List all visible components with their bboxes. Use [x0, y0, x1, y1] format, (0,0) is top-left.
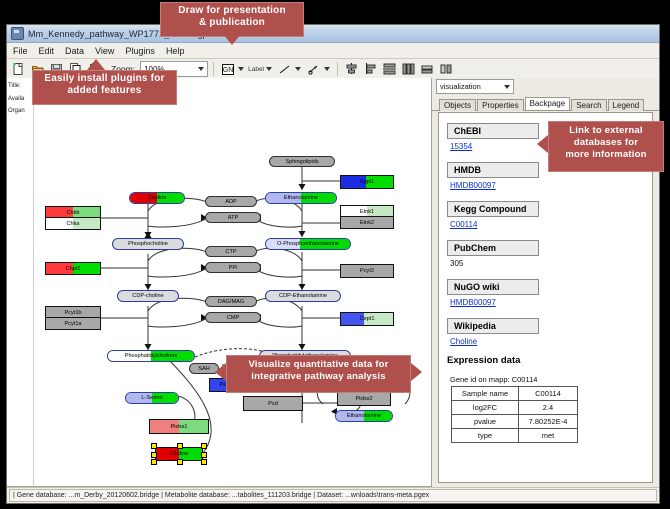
gene-label: Cept1	[360, 316, 375, 322]
node-label: L-Serine	[141, 395, 162, 401]
distribute-horizontal-icon[interactable]	[400, 61, 417, 78]
label-tool[interactable]: Label	[248, 66, 274, 73]
handle-nw[interactable]	[151, 443, 157, 449]
callout-draw: Draw for presentation & publication	[160, 2, 304, 37]
db-link-kegg[interactable]: C00114	[450, 220, 652, 229]
node-adp[interactable]: ADP	[205, 196, 257, 207]
menu-plugins[interactable]: Plugins	[124, 46, 156, 56]
node-atp[interactable]: ATP	[205, 212, 261, 223]
tab-objects[interactable]: Objects	[439, 99, 476, 111]
screenshot-root: Mm_Kennedy_pathway_WP1771_45176.gpml Fil…	[0, 0, 670, 509]
callout-plugins: Easily install plugins for added feature…	[32, 70, 177, 105]
menu-file[interactable]: File	[12, 46, 29, 56]
handle-e[interactable]	[201, 452, 207, 458]
gene-psd[interactable]: Psd	[243, 396, 303, 411]
gene-label: Pcyt1b	[64, 310, 81, 316]
callout-visualize-line2: integrative pathway analysis	[226, 371, 411, 383]
gene-chpt1[interactable]: Chpt1	[45, 262, 101, 275]
node-label: CTP	[225, 249, 236, 255]
node-label: ATP	[228, 215, 238, 221]
expr-value: met	[519, 429, 578, 443]
node-label: Ethanolamine	[347, 413, 381, 419]
chevron-down-icon	[504, 85, 510, 89]
interaction-icon[interactable]	[305, 61, 322, 78]
node-label: ADP	[225, 199, 237, 205]
node-cdp-ethanolamine[interactable]: CDP-Ethanolamine	[265, 290, 341, 302]
menu-edit[interactable]: Edit	[38, 46, 56, 56]
line-tool[interactable]	[276, 61, 303, 78]
visualization-value: visualization	[440, 82, 481, 91]
chevron-down-icon	[198, 67, 204, 71]
toolbar-separator	[213, 62, 214, 76]
node-label: DAG/MAG	[218, 299, 244, 305]
node-label: CMP	[227, 315, 239, 321]
same-height-icon[interactable]	[438, 61, 455, 78]
datanode-icon[interactable]: GN	[219, 61, 236, 78]
node-label: CDP-Ethanolamine	[279, 293, 327, 299]
table-row: pvalue 7.80252E-4	[452, 415, 578, 429]
datanode-tool[interactable]: GN	[219, 61, 246, 78]
callout-visualize: Visualize quantitative data for integrat…	[226, 355, 411, 393]
pathway-canvas[interactable]: Title: Availa Organ	[7, 78, 432, 487]
gene-ptdss1[interactable]: Ptdss1	[149, 419, 209, 434]
db-header-kegg: Kegg Compound	[447, 201, 539, 217]
menu-help[interactable]: Help	[165, 46, 186, 56]
status-bar: | Gene database: ...m_Derby_20120602.bri…	[7, 487, 659, 503]
handle-w[interactable]	[151, 452, 157, 458]
interaction-tool[interactable]	[305, 61, 332, 78]
callout-plugins-line2: added features	[32, 85, 177, 97]
gene-label: Etnk1	[360, 209, 374, 215]
node-phosphocholine[interactable]: Phosphocholine	[112, 238, 184, 250]
node-label: O-Phosphoethanolamine	[277, 241, 339, 247]
callout-plugins-line1: Easily install plugins for	[32, 73, 177, 85]
tab-backpage[interactable]: Backpage	[525, 97, 571, 110]
new-file-icon[interactable]	[10, 61, 27, 78]
expr-key: type	[452, 429, 519, 443]
db-header-hmdb: HMDB	[447, 162, 539, 178]
callout-link-line1: Link to external	[548, 125, 664, 137]
node-cdp-choline[interactable]: CDP-choline	[117, 290, 179, 302]
handle-sw[interactable]	[151, 459, 157, 465]
align-left-icon[interactable]	[362, 61, 379, 78]
gene-label: Chka	[66, 221, 79, 227]
tab-search[interactable]: Search	[571, 99, 606, 111]
menu-data[interactable]: Data	[64, 46, 85, 56]
callout-link-line2: databases for	[548, 137, 664, 149]
node-dagmag[interactable]: DAG/MAG	[205, 296, 257, 307]
svg-text:GN: GN	[222, 67, 233, 74]
db-link-hmdb[interactable]: HMDB00097	[450, 181, 652, 190]
node-sphingolipids[interactable]: Sphingolipids	[269, 156, 335, 167]
expr-value: C00114	[519, 387, 578, 401]
node-label: Phosphocholine	[128, 241, 168, 247]
node-label: Ethanolamine	[284, 195, 318, 201]
node-l-serine-left[interactable]: L-Serine	[125, 392, 179, 404]
node-o-phosphoethanolamine[interactable]: O-Phosphoethanolamine	[265, 238, 351, 250]
gene-label: Pcyt1a	[64, 321, 81, 327]
node-label: PPi	[229, 265, 238, 271]
expr-value: 7.80252E-4	[519, 415, 578, 429]
handle-ne[interactable]	[201, 443, 207, 449]
node-label: Phosphatidylcholines	[125, 353, 178, 359]
node-label: Sphingolipids	[285, 159, 318, 165]
callout-visualize-arrow-right	[411, 363, 422, 381]
db-link-nugo[interactable]: HMDB00097	[450, 298, 652, 307]
callout-draw-line2: & publication	[160, 17, 304, 29]
handle-s[interactable]	[177, 459, 183, 465]
handle-se[interactable]	[201, 459, 207, 465]
title-bar: Mm_Kennedy_pathway_WP1771_45176.gpml	[7, 25, 659, 43]
gene-label: Chkb	[66, 210, 79, 216]
same-width-icon[interactable]	[419, 61, 436, 78]
node-choline-top[interactable]: Choline	[129, 192, 185, 204]
expr-value: 2.4	[519, 401, 578, 415]
gene-sgpl1[interactable]: Sgpl1	[340, 175, 394, 189]
chevron-down-icon[interactable]	[238, 67, 244, 71]
pathway-edges	[7, 78, 431, 487]
expr-key: log2FC	[452, 401, 519, 415]
canvas-surface[interactable]: Title: Availa Organ	[7, 78, 431, 486]
gene-label: Ptdss1	[170, 424, 187, 430]
handle-n[interactable]	[177, 443, 183, 449]
gene-ptdss2[interactable]: Ptdss2	[337, 392, 391, 406]
gene-label: Psd	[268, 401, 278, 407]
gene-label: Ptdss2	[355, 396, 372, 402]
callout-link-line3: more information	[548, 149, 664, 161]
node-ethanolamine-top[interactable]: Ethanolamine	[265, 192, 337, 204]
side-panel-tabs: Objects Properties Backpage Search Legen…	[432, 95, 659, 111]
gene-label: Etnk2	[360, 220, 374, 226]
db-header-nugo: NuGO wiki	[447, 279, 539, 295]
status-text: | Gene database: ...m_Derby_20120602.bri…	[9, 489, 657, 502]
db-value-pubchem: 305	[450, 259, 652, 268]
tab-legend[interactable]: Legend	[608, 99, 645, 111]
node-ppi[interactable]: PPi	[205, 262, 261, 273]
expr-key: Sample name	[452, 387, 519, 401]
menu-bar: File Edit Data View Plugins Help	[7, 43, 659, 59]
chevron-down-icon[interactable]	[266, 67, 272, 71]
app-icon	[11, 27, 24, 40]
node-label: CDP-choline	[132, 293, 163, 299]
line-icon[interactable]	[276, 61, 293, 78]
callout-link: Link to external databases for more info…	[548, 121, 664, 172]
chevron-down-icon[interactable]	[324, 67, 330, 71]
db-link-wikipedia[interactable]: Choline	[450, 337, 652, 346]
gene-chka[interactable]: Chka	[45, 217, 101, 230]
distribute-vertical-icon[interactable]	[381, 61, 398, 78]
db-header-chebi: ChEBI	[447, 123, 539, 139]
toolbar-separator	[337, 62, 338, 76]
selection-handles[interactable]	[151, 443, 207, 465]
gene-id-label: Gene id on mapp: C00114	[450, 375, 652, 384]
callout-visualize-arrow-left	[215, 363, 226, 381]
callout-draw-arrow	[223, 34, 241, 45]
visualization-select[interactable]: visualization	[436, 79, 514, 94]
table-row: log2FC 2.4	[452, 401, 578, 415]
node-phosphatidylcholines[interactable]: Phosphatidylcholines	[107, 350, 195, 362]
node-cmp[interactable]: CMP	[205, 312, 261, 323]
node-label: Choline	[148, 195, 167, 201]
callout-draw-line1: Draw for presentation	[160, 5, 304, 17]
node-ctp[interactable]: CTP	[205, 246, 257, 257]
chevron-down-icon[interactable]	[295, 67, 301, 71]
expression-table: Sample name C00114 log2FC 2.4 pvalue 7.8…	[451, 386, 578, 443]
expr-key: pvalue	[452, 415, 519, 429]
callout-plugins-arrow	[87, 59, 105, 70]
gene-etnk2[interactable]: Etnk2	[340, 216, 394, 229]
gene-label: Pcyt2	[360, 268, 374, 274]
db-header-wikipedia: Wikipedia	[447, 318, 539, 334]
callout-visualize-line1: Visualize quantitative data for	[226, 359, 411, 371]
visualization-row: visualization	[432, 78, 659, 95]
node-ethanolamine-bottom[interactable]: Ethanolamine	[335, 410, 393, 422]
table-row: type met	[452, 429, 578, 443]
table-row: Sample name C00114	[452, 387, 578, 401]
gene-cept1[interactable]: Cept1	[340, 312, 394, 326]
gene-label: Chpt1	[66, 266, 81, 272]
menu-view[interactable]: View	[94, 46, 115, 56]
node-label: SAH	[198, 366, 210, 372]
db-header-pubchem: PubChem	[447, 240, 539, 256]
gene-pcyt1a[interactable]: Pcyt1a	[45, 317, 101, 330]
label-tool-label: Label	[248, 66, 264, 73]
callout-link-arrow	[537, 135, 548, 153]
gene-label: Sgpl1	[360, 179, 374, 185]
gene-pcyt2[interactable]: Pcyt2	[340, 264, 394, 278]
expression-data-title: Expression data	[447, 355, 652, 366]
align-center-icon[interactable]	[343, 61, 360, 78]
tab-properties[interactable]: Properties	[477, 99, 523, 111]
